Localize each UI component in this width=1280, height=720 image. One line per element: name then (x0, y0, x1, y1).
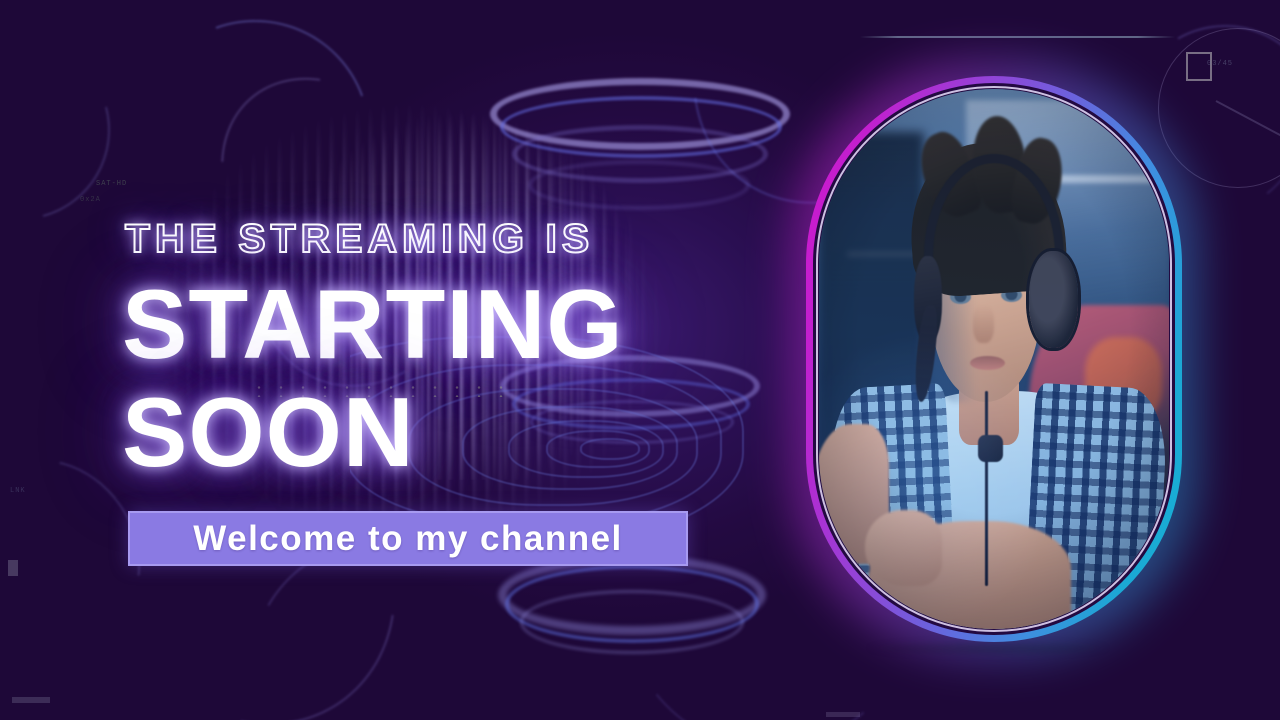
eyebrow-text: THE STREAMING IS (125, 217, 594, 262)
hud-horizontal-line (860, 36, 1175, 38)
headline-line-1: STARTING (122, 278, 624, 371)
headline-line-2: SOON (122, 386, 415, 479)
hud-bar-bottom-mid (826, 712, 860, 717)
gamer-photo (819, 89, 1169, 629)
headline-text-block: THE STREAMING IS STARTING SOON Welcome t… (0, 0, 780, 720)
streaming-overlay-stage: 03/45 SAT-HD 0x2A LNK THE STREAMING IS S… (0, 0, 1280, 720)
welcome-banner-label: Welcome to my channel (193, 519, 623, 559)
welcome-banner: Welcome to my channel (128, 511, 688, 566)
hud-micro-label-1: 03/45 (1207, 60, 1233, 68)
portrait-photo (819, 89, 1169, 629)
portrait-frame (806, 76, 1182, 642)
photo-vignette (819, 89, 1169, 629)
